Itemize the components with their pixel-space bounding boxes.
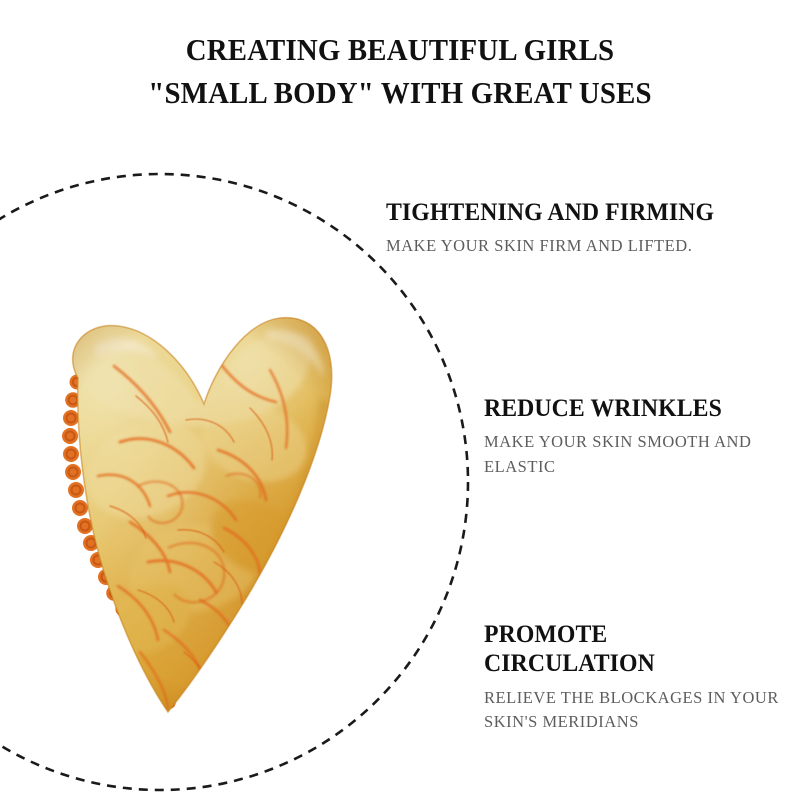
product-image: [18, 300, 368, 725]
feature-title: PROMOTE CIRCULATION: [484, 620, 780, 679]
product-infographic: CREATING BEAUTIFUL GIRLS "SMALL BODY" WI…: [0, 0, 800, 800]
feature-block-tightening-and-firming: TIGHTENING AND FIRMING MAKE YOUR SKIN FI…: [386, 198, 786, 259]
feature-title: REDUCE WRINKLES: [484, 394, 780, 423]
headline-line-2: "SMALL BODY" WITH GREAT USES: [28, 71, 772, 114]
page-title: CREATING BEAUTIFUL GIRLS "SMALL BODY" WI…: [28, 28, 772, 114]
feature-block-promote-circulation: PROMOTE CIRCULATION RELIEVE THE BLOCKAGE…: [484, 620, 796, 735]
headline-line-1: CREATING BEAUTIFUL GIRLS: [28, 28, 772, 71]
feature-description: MAKE YOUR SKIN FIRM AND LIFTED.: [386, 234, 774, 259]
feature-description: MAKE YOUR SKIN SMOOTH AND ELASTIC: [484, 430, 787, 479]
feature-block-reduce-wrinkles: REDUCE WRINKLES MAKE YOUR SKIN SMOOTH AN…: [484, 394, 796, 480]
stone-body: [18, 300, 368, 725]
feature-title: TIGHTENING AND FIRMING: [386, 198, 766, 227]
feature-description: RELIEVE THE BLOCKAGES IN YOUR SKIN'S MER…: [484, 686, 787, 735]
